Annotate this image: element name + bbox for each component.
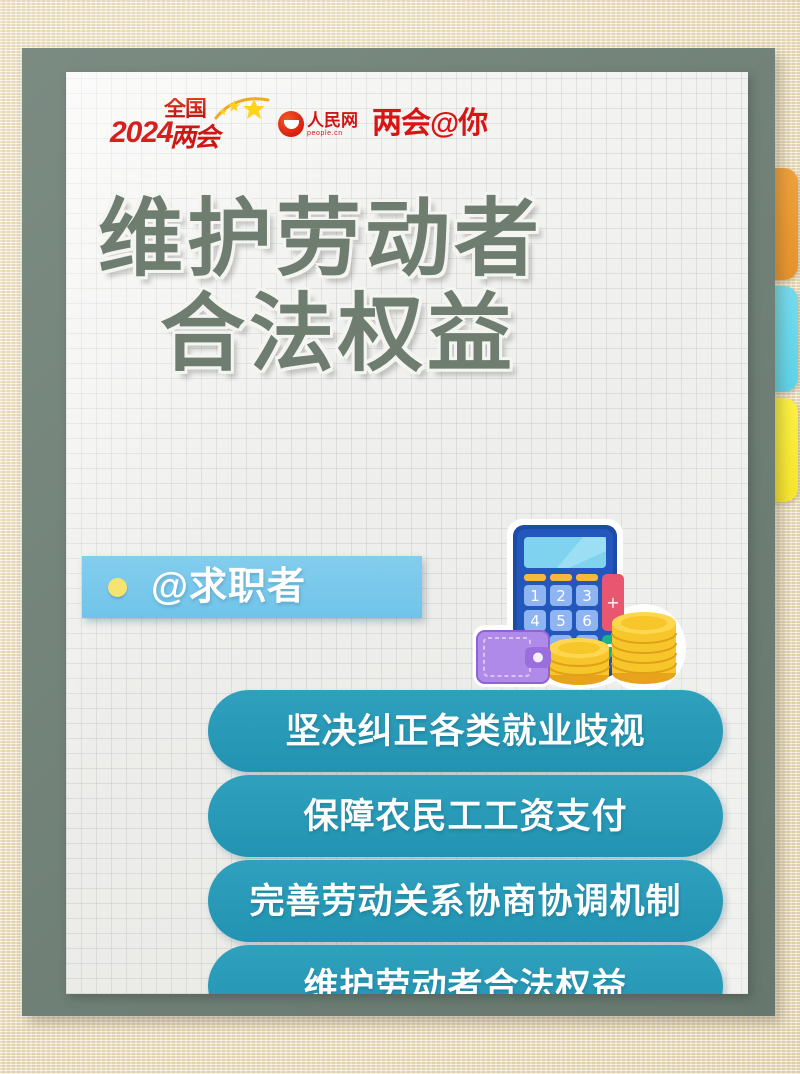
page-title: 维护劳动者 合法权益 (98, 192, 728, 382)
people-logo-en-text: people.cn (307, 130, 358, 137)
page-title-line-2: 合法权益 (160, 287, 728, 382)
points-list: 坚决纠正各类就业歧视 保障农民工工资支付 完善劳动关系协商协调机制 维护劳动者合… (208, 690, 723, 994)
audience-banner[interactable]: @求职者 (82, 556, 422, 618)
lianghui-2024-logo: 2024 全国 两会 (110, 100, 268, 148)
list-item[interactable]: 维护劳动者合法权益 (208, 945, 723, 994)
svg-text:1: 1 (530, 587, 540, 605)
stars-swoosh-icon (214, 96, 270, 122)
calculator-coins-wallet-illustration: 123 456 789 0 + (471, 515, 686, 690)
campaign-slogan-text: 两会@你 (372, 109, 487, 139)
svg-text:4: 4 (530, 612, 540, 630)
list-item[interactable]: 保障农民工工资支付 (208, 775, 723, 857)
logo-year-text: 2024 (110, 118, 173, 148)
people-logo-mark-icon (278, 111, 304, 137)
logo-lianghui-text: 两会 (170, 124, 218, 150)
list-item[interactable]: 坚决纠正各类就业歧视 (208, 690, 723, 772)
header-logo-row: 2024 全国 两会 人民网 people.cn 两会@你 (110, 100, 487, 148)
svg-text:5: 5 (556, 612, 566, 630)
svg-text:6: 6 (582, 612, 592, 630)
point-text: 完善劳动关系协商协调机制 (249, 884, 681, 919)
audience-label: @求职者 (151, 568, 306, 606)
svg-text:3: 3 (582, 587, 592, 605)
point-text: 维护劳动者合法权益 (303, 969, 627, 995)
point-text: 保障农民工工资支付 (303, 799, 627, 834)
svg-text:2: 2 (556, 587, 566, 605)
svg-text:+: + (606, 593, 619, 612)
people-cn-logo: 人民网 people.cn (278, 111, 358, 137)
banner-dot-icon (108, 578, 127, 597)
logo-quanguo-text: 全国 (164, 98, 206, 120)
page-title-line-1: 维护劳动者 (98, 192, 728, 287)
point-text: 坚决纠正各类就业歧视 (285, 714, 645, 749)
people-logo-cn-text: 人民网 (307, 112, 358, 129)
grid-paper-sheet: 2024 全国 两会 人民网 people.cn 两会@你 维护劳动者 合法权益 (66, 72, 748, 994)
people-logo-text: 人民网 people.cn (307, 112, 358, 137)
list-item[interactable]: 完善劳动关系协商协调机制 (208, 860, 723, 942)
